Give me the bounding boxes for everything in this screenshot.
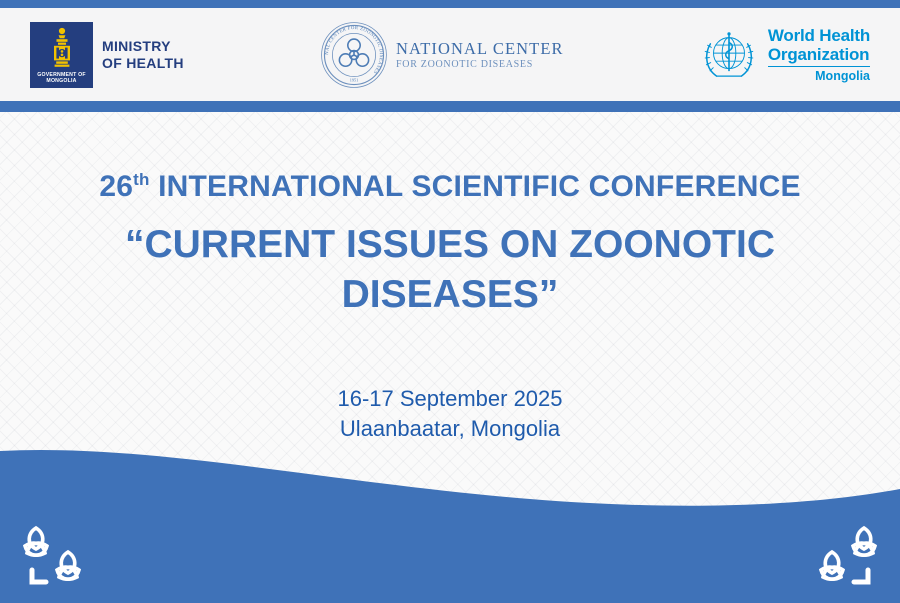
national-center-name-line2: FOR ZOONOTIC DISEASES [396, 58, 564, 71]
who-name-line2: Organization [768, 45, 870, 64]
conference-subtitle: 26th INTERNATIONAL SCIENTIFIC CONFERENCE [0, 170, 900, 204]
conference-title-slide: GOVERNMENT OF MONGOLIA MINISTRY OF HEALT… [0, 0, 900, 603]
page-title: “CURRENT ISSUES ON ZOONOTIC DISEASES” [0, 220, 900, 320]
ministry-name-line2: OF HEALTH [102, 55, 184, 72]
national-center-name: NATIONAL CENTER FOR ZOONOTIC DISEASES [396, 39, 564, 71]
svg-text:1951: 1951 [350, 77, 359, 82]
slide-content: 26th INTERNATIONAL SCIENTIFIC CONFERENCE… [0, 112, 900, 444]
event-location: Ulaanbaatar, Mongolia [0, 414, 900, 444]
ministry-name-line1: MINISTRY [102, 38, 184, 55]
svg-text:NATIONAL CENTER FOR ZOONOTIC D: NATIONAL CENTER FOR ZOONOTIC DISEASES [318, 19, 383, 74]
event-date: 16-17 September 2025 [0, 384, 900, 414]
conference-ordinal: th [133, 170, 149, 189]
ulzii-knot-ornament-left [14, 518, 102, 588]
who-underline-rule [768, 66, 870, 68]
who-emblem-icon [698, 24, 760, 86]
biohazard-seal-icon: NATIONAL CENTER FOR ZOONOTIC DISEASES 19… [318, 19, 390, 91]
ministry-of-health-logo: GOVERNMENT OF MONGOLIA MINISTRY OF HEALT… [30, 22, 184, 88]
logo-header-band: GOVERNMENT OF MONGOLIA MINISTRY OF HEALT… [0, 8, 900, 101]
who-name-line1: World Health [768, 26, 870, 45]
ministry-of-health-name: MINISTRY OF HEALTH [102, 38, 184, 72]
conference-subtitle-text: INTERNATIONAL SCIENTIFIC CONFERENCE [150, 170, 801, 203]
top-accent-bar [0, 0, 900, 8]
who-name: World Health Organization Mongolia [768, 26, 870, 84]
bottom-wave-decoration [0, 443, 900, 603]
event-details: 16-17 September 2025 Ulaanbaatar, Mongol… [0, 384, 900, 444]
emblem-caption-line1: GOVERNMENT OF [37, 72, 85, 78]
page-title-line2: DISEASES” [55, 270, 845, 320]
national-center-name-line1: NATIONAL CENTER [396, 39, 564, 58]
who-country-label: Mongolia [768, 69, 870, 83]
header-divider-bar [0, 101, 900, 112]
mongolia-state-emblem-icon: GOVERNMENT OF MONGOLIA [30, 22, 93, 88]
page-title-line1: “CURRENT ISSUES ON ZOONOTIC [55, 220, 845, 270]
conference-number: 26 [99, 170, 133, 203]
national-center-zoonotic-diseases-logo: NATIONAL CENTER FOR ZOONOTIC DISEASES 19… [318, 19, 564, 91]
emblem-caption: GOVERNMENT OF MONGOLIA [30, 72, 93, 85]
ulzii-knot-ornament-right [798, 518, 886, 588]
emblem-caption-line2: MONGOLIA [46, 78, 76, 84]
who-logo: World Health Organization Mongolia [698, 24, 870, 86]
